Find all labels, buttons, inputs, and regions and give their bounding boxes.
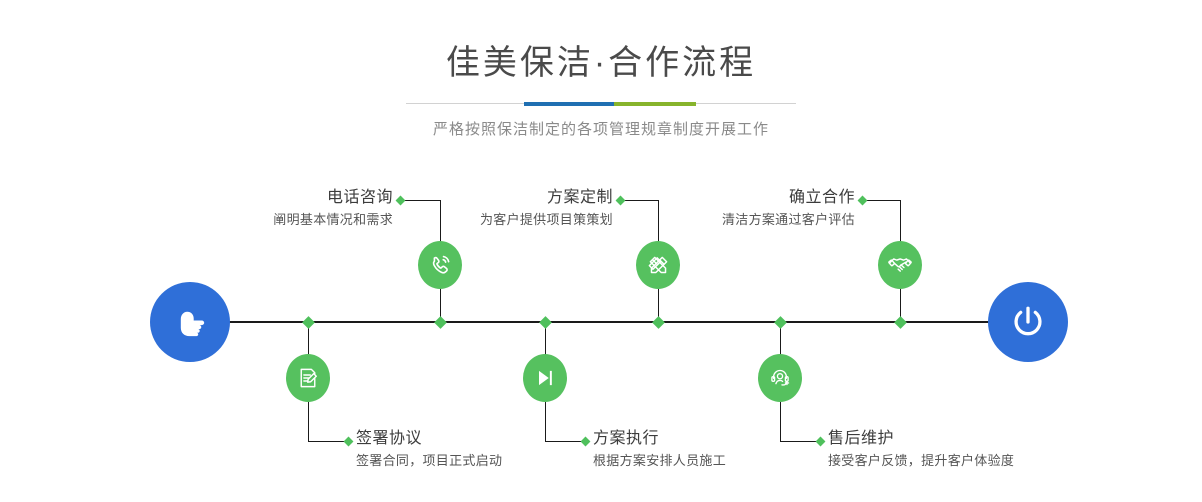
step-icon-3[interactable] <box>636 241 680 289</box>
connector-3-arm <box>622 200 658 201</box>
step-icon-1[interactable] <box>418 241 462 289</box>
step-desc-1: 阐明基本情况和需求 <box>145 210 393 230</box>
power-icon <box>1006 300 1050 344</box>
timeline-start-node[interactable] <box>150 282 230 362</box>
step-icon-4[interactable] <box>523 354 567 402</box>
axis-marker-5 <box>894 316 907 329</box>
step-desc-6: 接受客户反馈，提升客户体验度 <box>828 451 1108 471</box>
title-divider <box>406 102 796 106</box>
step-label-3: 方案定制 为客户提供项目策策划 <box>370 188 613 230</box>
step-label-1: 电话咨询 阐明基本情况和需求 <box>145 188 393 230</box>
page-title: 佳美保洁·合作流程 <box>0 0 1202 80</box>
handshake-icon <box>887 252 913 278</box>
axis-marker-6 <box>774 316 787 329</box>
step-title-3: 方案定制 <box>370 188 613 208</box>
pencil-ruler-icon <box>646 253 671 278</box>
connector-2-arm <box>308 441 346 442</box>
document-edit-icon <box>296 366 320 390</box>
label-marker-2 <box>343 436 353 446</box>
flowchart-canvas: 佳美保洁·合作流程 严格按照保洁制定的各项管理规章制度开展工作 <box>0 0 1202 502</box>
step-title-2: 签署协议 <box>356 429 616 449</box>
axis-marker-4 <box>539 316 552 329</box>
axis-marker-1 <box>434 316 447 329</box>
step-desc-4: 根据方案安排人员施工 <box>593 451 853 471</box>
page-subtitle: 严格按照保洁制定的各项管理规章制度开展工作 <box>0 118 1202 139</box>
step-label-2: 签署协议 签署合同，项目正式启动 <box>356 429 616 471</box>
divider-segment-blue <box>524 102 614 106</box>
step-desc-3: 为客户提供项目策策划 <box>370 210 613 230</box>
axis-marker-2 <box>302 316 315 329</box>
axis-marker-3 <box>652 316 665 329</box>
step-label-4: 方案执行 根据方案安排人员施工 <box>593 429 853 471</box>
step-desc-5: 清洁方案通过客户评估 <box>612 210 855 230</box>
connector-3-riser <box>658 200 659 243</box>
label-marker-5 <box>857 195 867 205</box>
timeline-end-node[interactable] <box>988 282 1068 362</box>
play-skip-icon <box>533 366 557 390</box>
connector-5-riser <box>900 200 901 243</box>
page-header: 佳美保洁·合作流程 严格按照保洁制定的各项管理规章制度开展工作 <box>0 0 1202 139</box>
connector-5-arm <box>864 200 900 201</box>
step-title-1: 电话咨询 <box>145 188 393 208</box>
phone-call-icon <box>428 253 453 278</box>
step-title-5: 确立合作 <box>612 188 855 208</box>
connector-2-riser <box>308 402 309 441</box>
connector-4-arm <box>545 441 583 442</box>
step-label-5: 确立合作 清洁方案通过客户评估 <box>612 188 855 230</box>
connector-6-riser <box>780 402 781 441</box>
connector-1-riser <box>440 200 441 243</box>
step-desc-2: 签署合同，项目正式启动 <box>356 451 616 471</box>
step-icon-6[interactable] <box>758 354 802 402</box>
step-title-4: 方案执行 <box>593 429 853 449</box>
headset-add-icon <box>768 366 792 390</box>
step-icon-5[interactable] <box>878 241 922 289</box>
connector-6-arm <box>780 441 818 442</box>
divider-segment-green <box>614 102 696 106</box>
step-icon-2[interactable] <box>286 354 330 402</box>
step-title-6: 售后维护 <box>828 429 1108 449</box>
pointing-hand-icon <box>169 301 211 343</box>
connector-4-riser <box>545 402 546 441</box>
connector-1-arm <box>402 200 440 201</box>
step-label-6: 售后维护 接受客户反馈，提升客户体验度 <box>828 429 1108 471</box>
